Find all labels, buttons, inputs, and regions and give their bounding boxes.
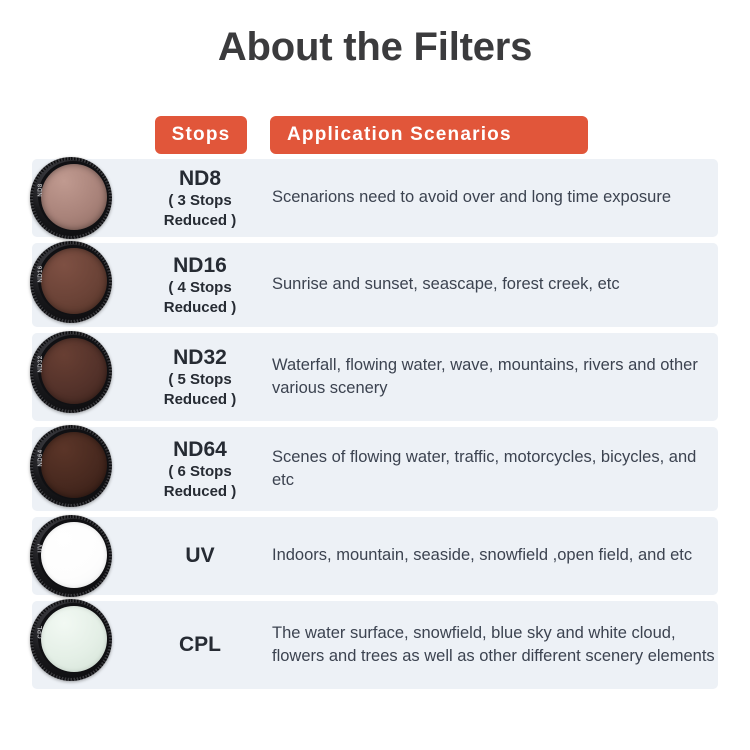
- scenario-description: The water surface, snowfield, blue sky a…: [272, 622, 716, 669]
- page-title: About the Filters: [0, 24, 750, 70]
- stops-sub-line2: Reduced ): [164, 299, 237, 317]
- scenario-cell: The water surface, snowfield, blue sky a…: [272, 601, 716, 689]
- filter-glass: [41, 338, 107, 404]
- stops-sub-line2: Reduced ): [164, 483, 237, 501]
- nd8-filter-photo: ND8: [30, 157, 114, 239]
- filter-ring-label: ND16: [38, 265, 44, 283]
- filter-name: ND32: [173, 346, 227, 370]
- table-row: ND64 ND64 ( 6 Stops Reduced ) Scenes of …: [0, 427, 750, 511]
- scenario-description: Scenes of flowing water, traffic, motorc…: [272, 446, 716, 493]
- nd32-filter-photo: ND32: [30, 331, 114, 413]
- table-row: ND8 ND8 ( 3 Stops Reduced ) Scenarions n…: [0, 159, 750, 237]
- scenario-description: Scenarions need to avoid over and long t…: [272, 186, 671, 209]
- scenario-description: Sunrise and sunset, seascape, forest cre…: [272, 273, 620, 296]
- filter-glass: [41, 522, 107, 588]
- stops-cell: CPL: [130, 601, 270, 689]
- filter-name: CPL: [179, 633, 221, 657]
- table-row: UV UV Indoors, mountain, seaside, snowfi…: [0, 517, 750, 595]
- stops-cell: UV: [130, 517, 270, 595]
- stops-cell: ND8 ( 3 Stops Reduced ): [130, 159, 270, 237]
- filter-ring-label: ND64: [38, 449, 44, 467]
- filter-glass: [41, 432, 107, 498]
- filter-name: UV: [185, 544, 214, 568]
- filter-name: ND16: [173, 254, 227, 278]
- stops-sub-line2: Reduced ): [164, 391, 237, 409]
- filter-name: ND64: [173, 438, 227, 462]
- scenario-description: Waterfall, flowing water, wave, mountain…: [272, 354, 716, 401]
- filter-name: ND8: [179, 167, 221, 191]
- scenario-cell: Waterfall, flowing water, wave, mountain…: [272, 333, 716, 421]
- filter-glass: [41, 248, 107, 314]
- filter-glass: [41, 164, 107, 230]
- header-stops: Stops: [155, 116, 247, 154]
- nd64-filter-photo: ND64: [30, 425, 114, 507]
- filter-ring-label: UV: [38, 539, 44, 557]
- filter-ring-label: ND8: [38, 181, 44, 199]
- stops-sub-line1: ( 4 Stops: [168, 279, 231, 297]
- nd16-filter-photo: ND16: [30, 241, 114, 323]
- table-row: ND16 ND16 ( 4 Stops Reduced ) Sunrise an…: [0, 243, 750, 327]
- stops-sub-line1: ( 6 Stops: [168, 463, 231, 481]
- filter-ring-label: ND32: [38, 355, 44, 373]
- scenario-cell: Scenes of flowing water, traffic, motorc…: [272, 427, 716, 511]
- stops-cell: ND32 ( 5 Stops Reduced ): [130, 333, 270, 421]
- stops-cell: ND16 ( 4 Stops Reduced ): [130, 243, 270, 327]
- stops-sub-line1: ( 3 Stops: [168, 192, 231, 210]
- header-application-scenarios: Application Scenarios: [270, 116, 588, 154]
- uv-filter-photo: UV: [30, 515, 114, 597]
- scenario-description: Indoors, mountain, seaside, snowfield ,o…: [272, 544, 692, 567]
- scenario-cell: Sunrise and sunset, seascape, forest cre…: [272, 243, 716, 327]
- filter-ring-label: CPL: [38, 623, 44, 641]
- scenario-cell: Scenarions need to avoid over and long t…: [272, 159, 716, 237]
- filter-glass: [41, 606, 107, 672]
- table-row: CPL CPL The water surface, snowfield, bl…: [0, 601, 750, 689]
- scenario-cell: Indoors, mountain, seaside, snowfield ,o…: [272, 517, 716, 595]
- stops-sub-line1: ( 5 Stops: [168, 371, 231, 389]
- table-row: ND32 ND32 ( 5 Stops Reduced ) Waterfall,…: [0, 333, 750, 421]
- cpl-filter-photo: CPL: [30, 599, 114, 681]
- table-header: Stops Application Scenarios: [155, 116, 588, 154]
- stops-sub-line2: Reduced ): [164, 212, 237, 230]
- stops-cell: ND64 ( 6 Stops Reduced ): [130, 427, 270, 511]
- filters-table: ND8 ND8 ( 3 Stops Reduced ) Scenarions n…: [0, 159, 750, 695]
